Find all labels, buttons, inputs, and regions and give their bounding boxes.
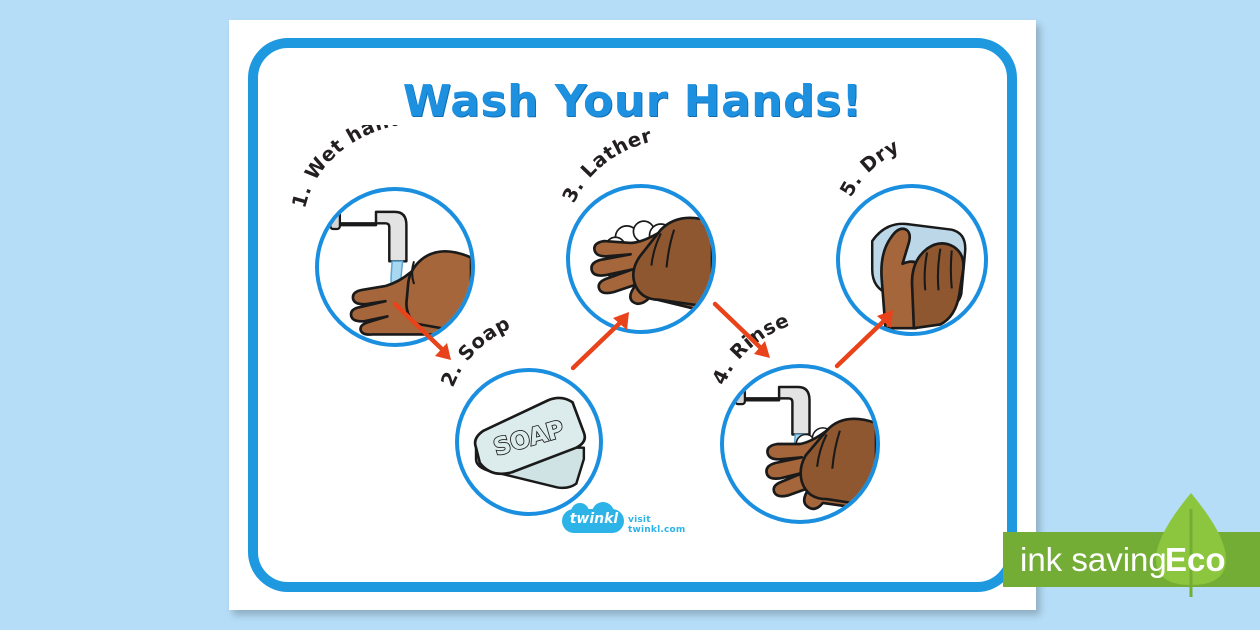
twinkl-branding[interactable]: twinkl visit twinkl.com — [562, 507, 707, 537]
twinkl-logo-text: twinkl — [568, 511, 620, 527]
eco-label: Eco — [1165, 541, 1226, 579]
tap-icon — [737, 387, 809, 435]
page-title: Wash Your Hands! — [229, 76, 1036, 127]
tap-icon — [332, 212, 406, 261]
twinkl-tagline: visit twinkl.com — [628, 515, 707, 535]
tap-base-icon — [735, 385, 745, 404]
eco-ink-saving-label: ink saving — [1020, 541, 1167, 579]
step-5-dry: 5. Dry — [809, 126, 1059, 341]
step-5-image — [836, 184, 988, 336]
hand-front-icon — [801, 419, 876, 507]
step-4-rinse: 4. Rinse — [694, 310, 954, 535]
step-2-image: SOAP — [455, 368, 603, 516]
step-4-image — [720, 364, 880, 524]
screenshot-canvas: Wash Your Hands! 1. Wet hands — [0, 0, 1260, 630]
poster: Wash Your Hands! 1. Wet hands — [229, 20, 1036, 610]
tap-base-icon — [330, 210, 340, 229]
